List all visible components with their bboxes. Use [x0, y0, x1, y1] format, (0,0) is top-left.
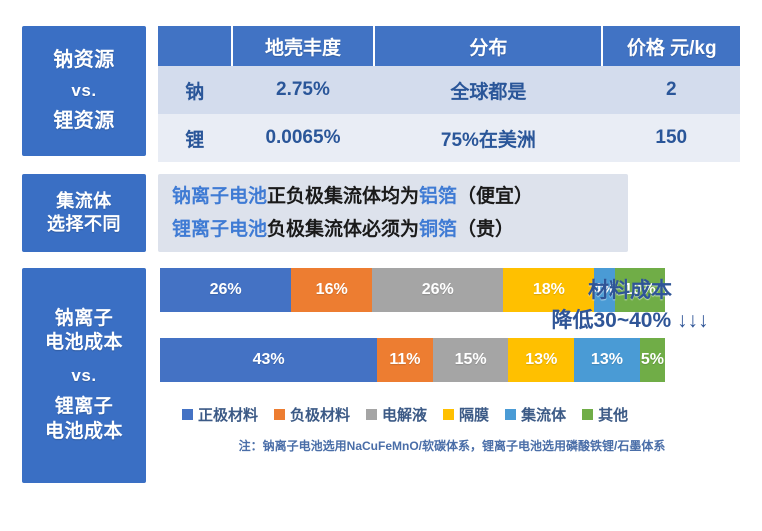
bar-segment: 5% — [640, 338, 665, 382]
column-header-distribution: 分布 — [374, 26, 602, 66]
legend-item: 集流体 — [505, 404, 566, 425]
legend-label: 电解液 — [382, 404, 427, 425]
collector-label-line-2: 选择不同 — [47, 213, 121, 236]
bar-segment-label: 16% — [316, 281, 348, 299]
stacked-bar-lithium: 43%11%15%13%13%5% — [160, 338, 665, 382]
table-row: 锂 0.0065% 75%在美洲 150 — [158, 114, 740, 162]
cell-element-name: 锂 — [158, 114, 232, 162]
collector-line-sodium-suffix: （便宜） — [457, 186, 533, 207]
cost-label-line-1: 钠离子 — [55, 307, 114, 331]
cost-stacked-bar-chart: 26%16%26%18%4%10% 43%11%15%13%13%5% 材料成本… — [160, 268, 740, 483]
collector-line-sodium-material: 铝箔 — [419, 186, 457, 207]
bar-segment-label: 13% — [525, 351, 557, 369]
legend-label: 正极材料 — [198, 404, 258, 425]
collector-line-sodium-text: 正负极集流体均为 — [267, 186, 419, 207]
bar-segment: 13% — [574, 338, 640, 382]
legend-swatch-icon — [182, 409, 193, 420]
legend-item: 其他 — [582, 404, 628, 425]
bar-segment-label: 5% — [641, 351, 664, 369]
cost-label-line-5: 电池成本 — [45, 420, 123, 444]
legend-swatch-icon — [274, 409, 285, 420]
collector-line-lithium-text: 负极集流体必须为 — [267, 219, 419, 240]
legend-item: 负极材料 — [274, 404, 350, 425]
section-current-collector: 集流体 选择不同 钠离子电池正负极集流体均为铝箔（便宜） 锂离子电池负极集流体必… — [22, 174, 740, 252]
cell-price: 150 — [602, 114, 740, 162]
bar-segment: 13% — [508, 338, 574, 382]
callout-line-1: 材料成本 — [505, 276, 755, 306]
legend-label: 其他 — [598, 404, 628, 425]
table-row: 钠 2.75% 全球都是 2 — [158, 66, 740, 114]
resource-label-line-1: 钠资源 — [53, 48, 115, 74]
cost-reduction-callout: 材料成本 降低30~40% ↓↓↓ — [505, 276, 755, 336]
collector-text-panel: 钠离子电池正负极集流体均为铝箔（便宜） 锂离子电池负极集流体必须为铜箔（贵） — [158, 174, 628, 252]
bar-segment: 43% — [160, 338, 377, 382]
callout-line-2: 降低30~40% ↓↓↓ — [505, 306, 755, 336]
bar-segment-label: 26% — [422, 281, 454, 299]
bar-segment-label: 13% — [591, 351, 623, 369]
cell-abundance: 0.0065% — [232, 114, 375, 162]
bar-segment: 11% — [377, 338, 433, 382]
cost-label-vs: vs. — [71, 365, 96, 387]
legend-swatch-icon — [582, 409, 593, 420]
collector-line-sodium: 钠离子电池正负极集流体均为铝箔（便宜） — [172, 180, 614, 213]
resource-label-line-3: 锂资源 — [53, 109, 115, 135]
legend-label: 负极材料 — [290, 404, 350, 425]
cost-section-label: 钠离子 电池成本 vs. 锂离子 电池成本 — [22, 268, 146, 483]
legend-swatch-icon — [366, 409, 377, 420]
legend-label: 隔膜 — [459, 404, 489, 425]
bar-segment: 15% — [433, 338, 509, 382]
cell-element-name: 钠 — [158, 66, 232, 114]
resource-section-label: 钠资源 vs. 锂资源 — [22, 26, 146, 156]
legend-item: 正极材料 — [182, 404, 258, 425]
bar-segment: 26% — [372, 268, 503, 312]
legend-swatch-icon — [505, 409, 516, 420]
resource-table: 地壳丰度 分布 价格 元/kg 钠 2.75% 全球都是 2 锂 0.0065%… — [158, 26, 740, 162]
column-header-abundance: 地壳丰度 — [232, 26, 375, 66]
column-header-price: 价格 元/kg — [602, 26, 740, 66]
bar-segment-label: 11% — [389, 351, 420, 369]
section-resource-comparison: 钠资源 vs. 锂资源 地壳丰度 分布 价格 元/kg 钠 2.75% 全球都是… — [22, 26, 740, 156]
bar-segment-label: 15% — [455, 351, 487, 369]
column-header-blank — [158, 26, 232, 66]
collector-line-lithium-material: 铜箔 — [419, 219, 457, 240]
resource-label-vs: vs. — [71, 80, 96, 102]
collector-line-lithium-suffix: （贵） — [457, 219, 514, 240]
cell-price: 2 — [602, 66, 740, 114]
collector-section-label: 集流体 选择不同 — [22, 174, 146, 252]
legend-label: 集流体 — [521, 404, 566, 425]
collector-line-sodium-lead: 钠离子电池 — [172, 186, 267, 207]
bar-segment: 26% — [160, 268, 291, 312]
collector-label-line-1: 集流体 — [56, 190, 112, 213]
bar-segment: 16% — [291, 268, 372, 312]
table-header-row: 地壳丰度 分布 价格 元/kg — [158, 26, 740, 66]
infographic-page: 钠资源 vs. 锂资源 地壳丰度 分布 价格 元/kg 钠 2.75% 全球都是… — [0, 0, 762, 531]
chart-legend: 正极材料负极材料电解液隔膜集流体其他 — [160, 404, 740, 425]
cell-distribution: 75%在美洲 — [374, 114, 602, 162]
legend-swatch-icon — [443, 409, 454, 420]
collector-line-lithium: 锂离子电池负极集流体必须为铜箔（贵） — [172, 213, 614, 246]
cell-distribution: 全球都是 — [374, 66, 602, 114]
legend-item: 电解液 — [366, 404, 427, 425]
legend-item: 隔膜 — [443, 404, 489, 425]
bar-segment-label: 26% — [210, 281, 242, 299]
collector-line-lithium-lead: 锂离子电池 — [172, 219, 267, 240]
cost-label-line-4: 锂离子 — [55, 395, 114, 419]
chart-footnote: 注：钠离子电池选用NaCuFeMnO/软碳体系，锂离子电池选用磷酸铁锂/石墨体系 — [160, 437, 740, 454]
cell-abundance: 2.75% — [232, 66, 375, 114]
cost-label-line-2: 电池成本 — [45, 331, 123, 355]
section-cost-comparison: 钠离子 电池成本 vs. 锂离子 电池成本 26%16%26%18%4%10% … — [22, 268, 740, 483]
bar-segment-label: 43% — [253, 351, 285, 369]
